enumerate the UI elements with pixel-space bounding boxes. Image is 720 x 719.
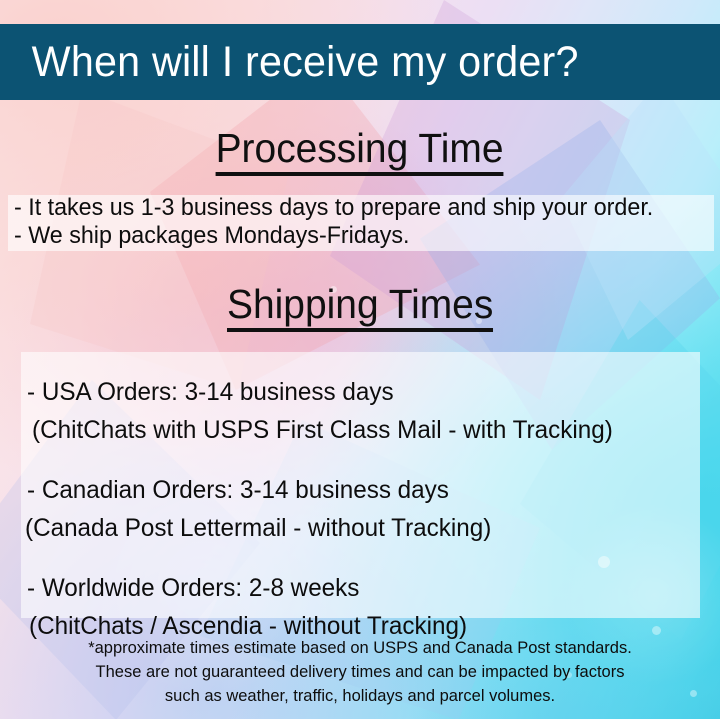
footnote-line: such as weather, traffic, holidays and p…: [11, 684, 709, 708]
processing-time-heading-text: Processing Time: [216, 128, 504, 176]
shipping-times-groups: - USA Orders: 3-14 business days (ChitCh…: [27, 352, 707, 645]
shipping-group-usa-main: - USA Orders: 3-14 business days: [27, 373, 687, 411]
title-banner: When will I receive my order?: [0, 24, 720, 100]
footnote: *approximate times estimate based on USP…: [0, 636, 720, 708]
shipping-info-poster: When will I receive my order? Processing…: [0, 0, 720, 719]
footnote-line: These are not guaranteed delivery times …: [11, 660, 709, 684]
processing-time-heading: Processing Time: [0, 128, 720, 176]
shipping-group-worldwide: - Worldwide Orders: 2-8 weeks (ChitChats…: [27, 569, 707, 645]
shipping-group-canada: - Canadian Orders: 3-14 business days (C…: [27, 471, 707, 547]
shipping-times-heading: Shipping Times: [0, 284, 720, 332]
shipping-group-canada-main: - Canadian Orders: 3-14 business days: [27, 471, 687, 509]
processing-time-line: - We ship packages Mondays-Fridays.: [14, 222, 693, 250]
page-title: When will I receive my order?: [0, 41, 579, 84]
shipping-group-worldwide-main: - Worldwide Orders: 2-8 weeks: [27, 569, 687, 607]
footnote-line: *approximate times estimate based on USP…: [11, 636, 709, 660]
processing-time-line: - It takes us 1-3 business days to prepa…: [14, 194, 693, 222]
shipping-group-canada-sub: (Canada Post Lettermail - without Tracki…: [25, 509, 687, 547]
processing-time-lines: - It takes us 1-3 business days to prepa…: [14, 194, 714, 250]
shipping-times-heading-text: Shipping Times: [227, 284, 493, 332]
shipping-group-usa: - USA Orders: 3-14 business days (ChitCh…: [27, 352, 707, 449]
shipping-group-usa-sub: (ChitChats with USPS First Class Mail - …: [32, 411, 687, 449]
